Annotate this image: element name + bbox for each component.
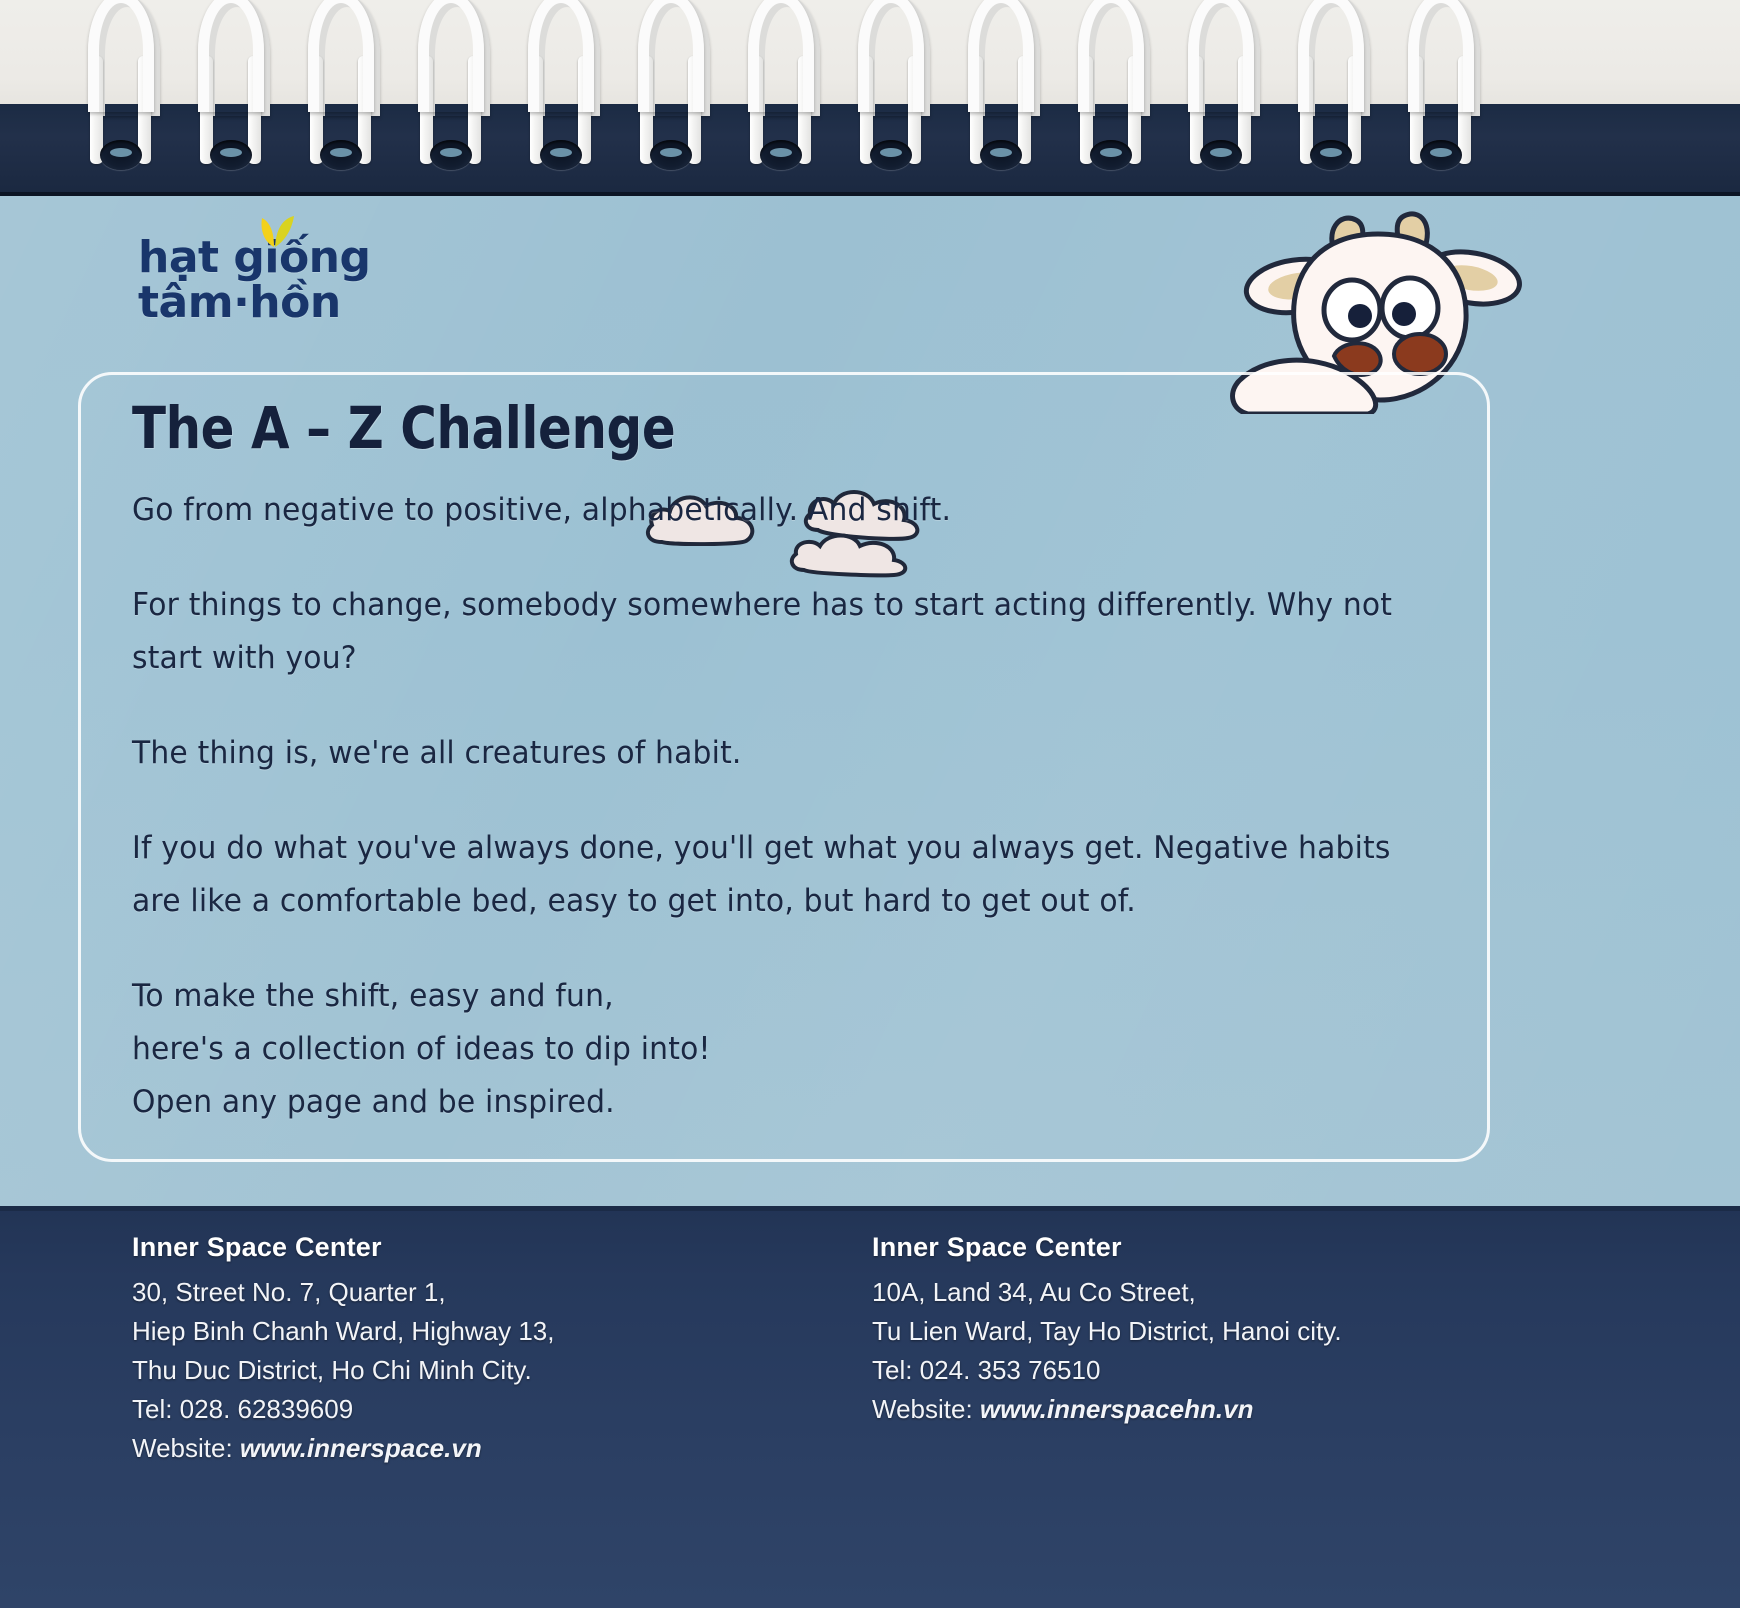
body-paragraph: To make the shift, easy and fun,here's a… (132, 970, 1409, 1129)
binding-hole (760, 140, 802, 170)
footer-website-row: Website: www.innerspace.vn (132, 1429, 752, 1468)
leaf-sprout-icon (256, 214, 296, 248)
calendar-page: hạt giống tâm·hồn (0, 0, 1740, 1608)
binding-hole (320, 140, 362, 170)
binding-hole (1420, 140, 1462, 170)
binding-hole (100, 140, 142, 170)
footer-address-line: 30, Street No. 7, Quarter 1, (132, 1273, 752, 1312)
page-title: The A – Z Challenge (132, 394, 675, 462)
page-footer: Inner Space Center 30, Street No. 7, Qua… (0, 1206, 1740, 1608)
footer-address-line: 10A, Land 34, Au Co Street, (872, 1273, 1532, 1312)
body-paragraph: Go from negative to positive, alphabetic… (132, 484, 1409, 537)
body-paragraph: The thing is, we're all creatures of hab… (132, 727, 1409, 780)
footer-org-title: Inner Space Center (872, 1232, 1532, 1263)
body-paragraph: For things to change, somebody somewhere… (132, 579, 1409, 685)
binding-hole (210, 140, 252, 170)
binding-hole (650, 140, 692, 170)
footer-column-hanoi: Inner Space Center 10A, Land 34, Au Co S… (872, 1232, 1532, 1429)
page-body: hạt giống tâm·hồn (0, 196, 1740, 1206)
brand-logo: hạt giống tâm·hồn (138, 236, 378, 324)
binding-hole (430, 140, 472, 170)
footer-address-line: Tu Lien Ward, Tay Ho District, Hanoi cit… (872, 1312, 1532, 1351)
binding-hole (540, 140, 582, 170)
binding-hole (870, 140, 912, 170)
brand-line-2: tâm·hồn (138, 281, 378, 324)
footer-phone: Tel: 028. 62839609 (132, 1390, 752, 1429)
binding-hole (1310, 140, 1352, 170)
footer-column-hcmc: Inner Space Center 30, Street No. 7, Qua… (132, 1232, 752, 1468)
footer-website-label: Website: (872, 1394, 973, 1424)
page-body-text: Go from negative to positive, alphabetic… (132, 484, 1409, 1129)
footer-address-line: Hiep Binh Chanh Ward, Highway 13, (132, 1312, 752, 1351)
footer-website-link[interactable]: www.innerspacehn.vn (980, 1394, 1254, 1424)
binding-hole (980, 140, 1022, 170)
footer-website-link[interactable]: www.innerspace.vn (240, 1433, 482, 1463)
footer-phone: Tel: 024. 353 76510 (872, 1351, 1532, 1390)
binding-hole (1200, 140, 1242, 170)
body-paragraph: If you do what you've always done, you'l… (132, 822, 1409, 928)
footer-website-row: Website: www.innerspacehn.vn (872, 1390, 1532, 1429)
binding-hole (1090, 140, 1132, 170)
footer-website-label: Website: (132, 1433, 233, 1463)
footer-org-title: Inner Space Center (132, 1232, 752, 1263)
footer-address-line: Thu Duc District, Ho Chi Minh City. (132, 1351, 752, 1390)
